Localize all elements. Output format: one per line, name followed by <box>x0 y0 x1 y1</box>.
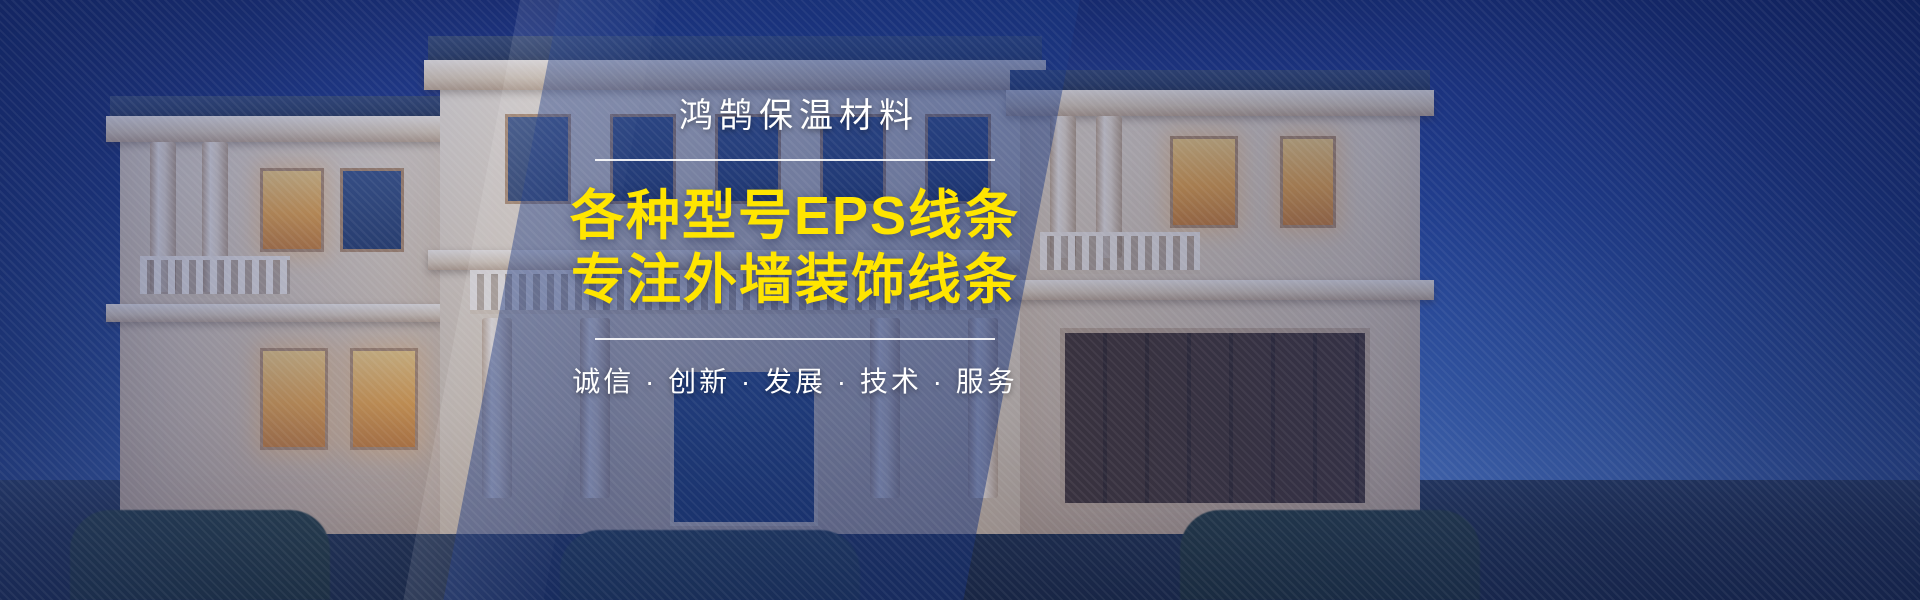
center-roofline <box>428 36 1042 62</box>
right-wing-roofline <box>1010 70 1430 92</box>
divider-top <box>595 159 995 161</box>
hedge-left <box>70 510 330 600</box>
left-window-upper-1 <box>260 168 324 252</box>
tagline: 诚信 · 创新 · 发展 · 技术 · 服务 <box>555 360 1035 400</box>
left-window-upper-2 <box>340 168 404 252</box>
right-balustrade <box>1040 232 1200 274</box>
hedge-center <box>560 530 860 600</box>
brand-name: 鸿鹄保温材料 <box>563 96 1035 137</box>
left-balustrade <box>140 256 290 298</box>
center-cornice <box>424 60 1046 90</box>
left-wing-roofline <box>110 96 462 118</box>
right-wing-midband <box>1006 280 1434 300</box>
hero-banner: 鸿鹄保温材料 各种型号EPS线条 专注外墙装饰线条 诚信 · 创新 · 发展 ·… <box>0 0 1920 600</box>
headline-block: 各种型号EPS线条 专注外墙装饰线条 <box>555 185 1035 312</box>
banner-copy-block: 鸿鹄保温材料 各种型号EPS线条 专注外墙装饰线条 诚信 · 创新 · 发展 ·… <box>555 96 1035 400</box>
right-window-upper-2 <box>1280 136 1336 228</box>
left-wing-cornice <box>106 116 466 142</box>
left-wing-midband <box>106 304 466 322</box>
left-window-lower-1 <box>260 348 328 450</box>
headline-line-2: 专注外墙装饰线条 <box>555 249 1035 313</box>
divider-bottom <box>595 338 995 340</box>
headline-line-1: 各种型号EPS线条 <box>555 185 1035 249</box>
hedge-right <box>1180 510 1480 600</box>
left-window-lower-2 <box>350 348 418 450</box>
center-column-1 <box>482 318 512 498</box>
right-window-upper-1 <box>1170 136 1238 228</box>
garage-door <box>1060 328 1370 508</box>
right-wing-cornice <box>1006 90 1434 116</box>
